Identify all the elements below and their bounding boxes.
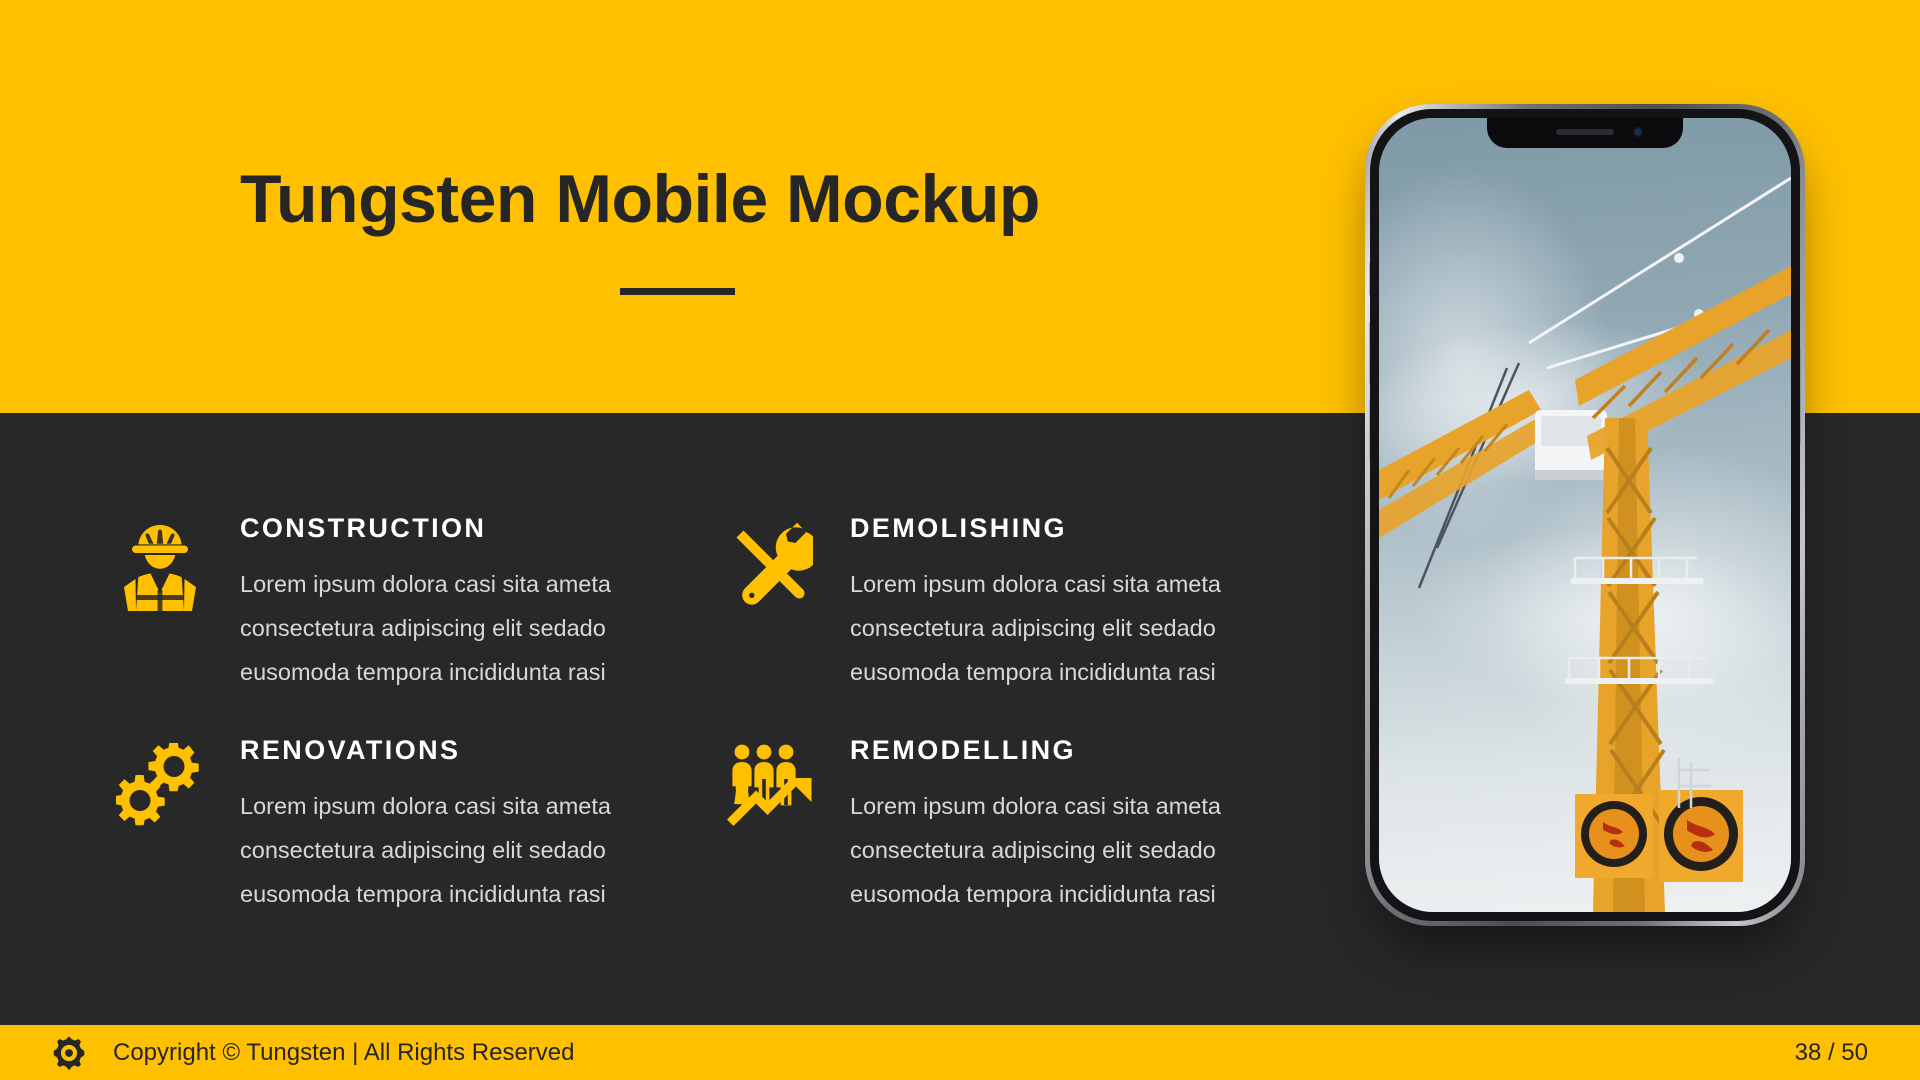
gears-icon [108,735,212,847]
feature-text-remodelling: REMODELLING Lorem ipsum dolora casi sita… [822,735,1221,916]
footer-page-number: 38 / 50 [1795,1039,1868,1067]
tower-crane-illustration [1379,118,1791,912]
feature-text-demolishing: DEMOLISHING Lorem ipsum dolora casi sita… [822,513,1221,694]
feature-line: consectetura adipiscing elit sedado [850,828,1221,872]
slide: Tungsten Mobile Mockup [0,0,1920,1080]
feature-title: RENOVATIONS [240,735,611,766]
feature-item-renovations[interactable]: RENOVATIONS Lorem ipsum dolora casi sita… [108,735,611,916]
feature-line: Lorem ipsum dolora casi sita ameta [850,784,1221,828]
feature-line: eusomoda tempora incididunta rasi [850,872,1221,916]
feature-line: eusomoda tempora incididunta rasi [850,650,1221,694]
people-growth-arrow-icon [718,735,822,847]
gear-icon [52,1036,86,1070]
feature-line: consectetura adipiscing elit sedado [850,606,1221,650]
feature-line: Lorem ipsum dolora casi sita ameta [240,784,611,828]
feature-line: eusomoda tempora incididunta rasi [240,650,611,694]
footer-copyright: Copyright © Tungsten | All Rights Reserv… [113,1039,574,1067]
feature-title: REMODELLING [850,735,1221,766]
feature-item-remodelling[interactable]: REMODELLING Lorem ipsum dolora casi sita… [718,735,1221,916]
feature-item-demolishing[interactable]: DEMOLISHING Lorem ipsum dolora casi sita… [718,513,1221,694]
front-camera-icon [1633,127,1643,137]
feature-item-construction[interactable]: CONSTRUCTION Lorem ipsum dolora casi sit… [108,513,611,694]
feature-line: Lorem ipsum dolora casi sita ameta [850,562,1221,606]
feature-text-renovations: RENOVATIONS Lorem ipsum dolora casi sita… [212,735,611,916]
title-underline-rule [620,288,735,295]
phone-mockup [1355,98,1815,928]
feature-text-construction: CONSTRUCTION Lorem ipsum dolora casi sit… [212,513,611,694]
page-title: Tungsten Mobile Mockup [240,160,1040,238]
construction-worker-icon [108,513,212,625]
phone-notch [1487,118,1683,148]
feature-title: DEMOLISHING [850,513,1221,544]
feature-title: CONSTRUCTION [240,513,611,544]
feature-grid: CONSTRUCTION Lorem ipsum dolora casi sit… [0,413,1330,1025]
footer-bar: Copyright © Tungsten | All Rights Reserv… [0,1025,1920,1080]
phone-screen[interactable] [1379,118,1791,912]
feature-line: Lorem ipsum dolora casi sita ameta [240,562,611,606]
feature-line: consectetura adipiscing elit sedado [240,828,611,872]
feature-line: eusomoda tempora incididunta rasi [240,872,611,916]
wrench-screwdriver-icon [718,513,822,625]
earpiece-speaker-icon [1556,129,1614,135]
feature-line: consectetura adipiscing elit sedado [240,606,611,650]
